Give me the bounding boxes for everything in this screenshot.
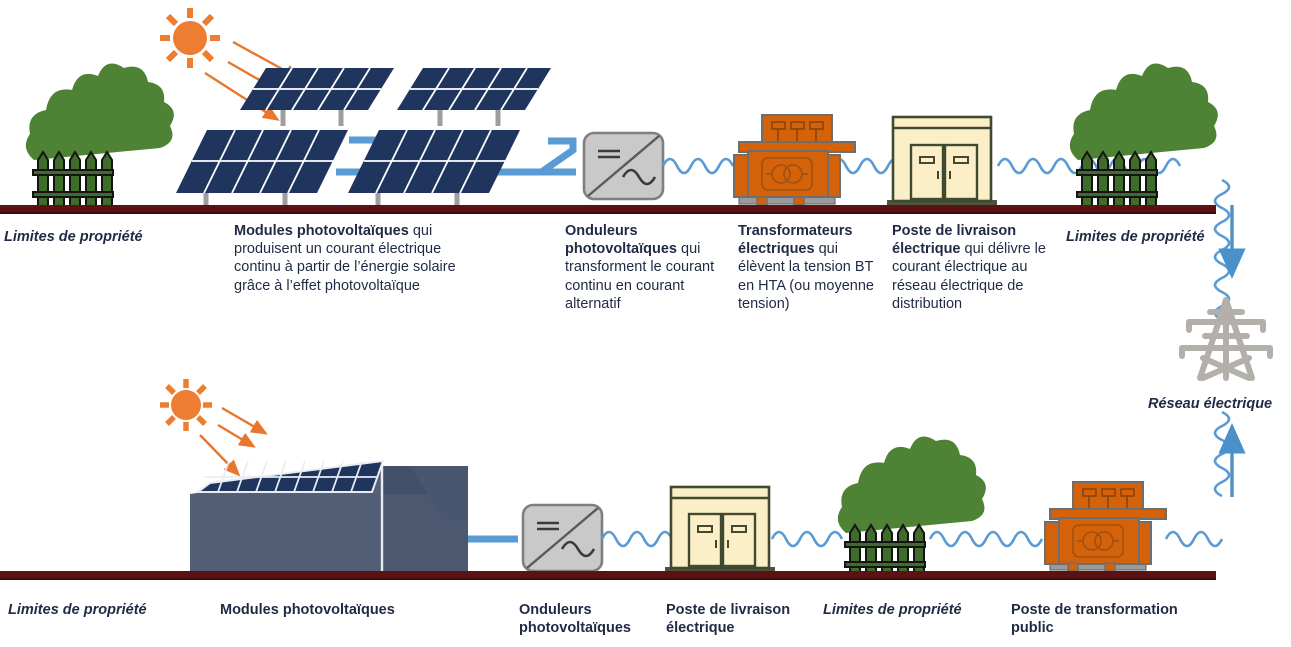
- caption-limites-propriete-top-left: Limites de propriété: [4, 228, 214, 246]
- rooftop-solar-building-icon: [190, 461, 468, 573]
- caption-poste-transformation-bottom: Poste de transformation public: [1011, 601, 1201, 637]
- delivery-station-icon: [665, 487, 775, 575]
- ac-wave-cable: [602, 532, 672, 546]
- bush-fence-icon: [26, 64, 174, 209]
- ac-wave-cable: [930, 532, 1042, 546]
- pylon-icon: [1182, 300, 1270, 378]
- solar-panel-icon: [397, 68, 551, 126]
- caption-lead: Onduleurs photovoltaïques: [565, 223, 677, 257]
- ground-line: [0, 205, 1216, 214]
- caption-modules-photovoltaiques-top: Modules photovoltaïques qui produisent u…: [234, 222, 466, 295]
- caption-onduleurs-bottom: Onduleurs photovoltaïques: [519, 601, 659, 637]
- caption-poste-livraison-bottom: Poste de livraison électrique: [666, 601, 808, 637]
- caption-transformateurs-top: Transformateurs électriques qui élèvent …: [738, 222, 882, 313]
- ground-line: [0, 571, 1216, 580]
- caption-onduleurs-top: Onduleurs photovoltaïques qui transforme…: [565, 222, 727, 313]
- caption-limites-propriete-bottom-mid: Limites de propriété: [823, 601, 1013, 619]
- bush-fence-icon: [838, 437, 986, 576]
- scene-graphics: [0, 0, 1291, 647]
- caption-modules-photovoltaiques-bottom: Modules photovoltaïques: [220, 601, 490, 619]
- caption-poste-livraison-top: Poste de livraison électrique qui délivr…: [892, 222, 1054, 313]
- ac-wave-cable: [832, 159, 902, 173]
- ac-wave-cable: [1215, 412, 1229, 496]
- ac-wave-cable: [663, 159, 733, 173]
- delivery-station-icon: [887, 117, 997, 208]
- transformer-icon: [1045, 482, 1166, 571]
- solar-panel-icon: [348, 130, 520, 207]
- solar-panel-icon: [176, 130, 348, 207]
- sun-icon: [160, 379, 212, 431]
- bush-fence-icon: [1070, 64, 1218, 209]
- label-reseau-electrique: Réseau électrique: [1148, 396, 1272, 412]
- caption-limites-propriete-bottom-left: Limites de propriété: [8, 601, 218, 619]
- inverter-icon: [523, 505, 602, 571]
- inverter-icon: [584, 133, 663, 199]
- caption-limites-propriete-top-right: Limites de propriété: [1066, 228, 1246, 246]
- sun-ray-arrow-icon: [200, 408, 260, 470]
- transformer-icon: [734, 115, 855, 205]
- ac-wave-cable: [1166, 532, 1222, 546]
- diagram-canvas: Limites de propriété Modules photovoltaï…: [0, 0, 1291, 647]
- caption-lead: Modules photovoltaïques: [234, 223, 409, 239]
- ac-wave-cable: [772, 532, 842, 546]
- solar-panel-icon: [240, 68, 394, 126]
- sun-icon: [160, 8, 220, 68]
